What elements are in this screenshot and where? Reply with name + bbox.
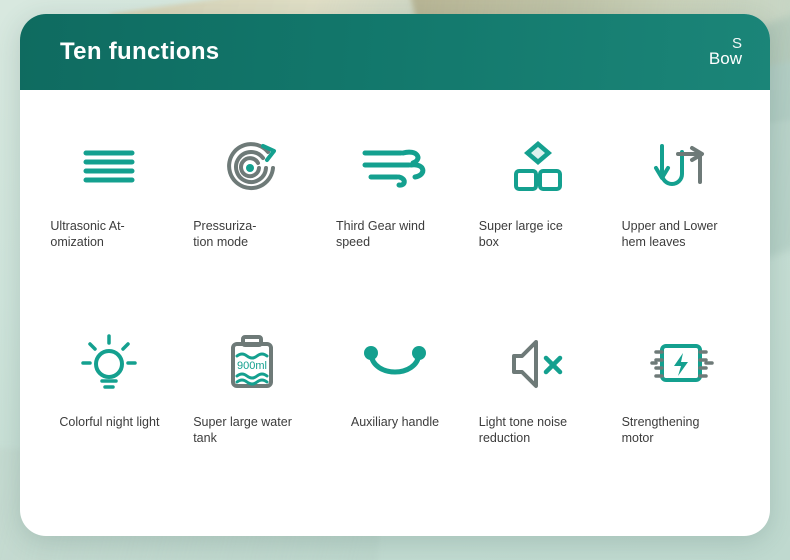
motor-bolt-icon [644, 320, 718, 406]
mute-speaker-icon [506, 320, 570, 406]
function-label: Colorful night light [50, 414, 168, 430]
header-right-line2: Bow [709, 50, 742, 69]
feature-card: Ten functions S Bow [20, 14, 770, 536]
water-tank-icon: 900ml [221, 320, 283, 406]
header-right-line1: S [709, 36, 742, 50]
function-label: Strengthening motor [622, 414, 740, 446]
page-title: Ten functions [60, 38, 219, 66]
function-item-super-large-water-tank[interactable]: 900ml Super large water tank [181, 320, 324, 516]
function-label: Third Gear wind speed [336, 218, 454, 250]
card-header: Ten functions S Bow [20, 14, 770, 90]
function-label: Super large ice box [479, 218, 597, 250]
function-item-strengthening-motor[interactable]: Strengthening motor [609, 320, 752, 516]
function-label: Light tone noise reduction [479, 414, 597, 446]
wind-lines-icon [357, 124, 433, 210]
function-label: Upper and Lower hem leaves [622, 218, 740, 250]
function-item-third-gear-wind-speed[interactable]: Third Gear wind speed [324, 124, 467, 320]
light-bulb-icon [77, 320, 141, 406]
function-label: Auxiliary handle [336, 414, 454, 430]
function-item-auxiliary-handle[interactable]: Auxiliary handle [324, 320, 467, 516]
water-tank-capacity-badge: 900ml [237, 360, 267, 372]
handle-icon [359, 320, 431, 406]
function-item-ultrasonic-atomization[interactable]: Ultrasonic At- omization [38, 124, 181, 320]
screen-root: Ten functions S Bow [0, 0, 790, 560]
function-label: Super large water tank [193, 414, 311, 446]
up-down-arrows-icon [648, 124, 714, 210]
spiral-fan-icon [217, 124, 287, 210]
function-item-upper-and-lower-hem-leaves[interactable]: Upper and Lower hem leaves [609, 124, 752, 320]
function-label: Ultrasonic At- omization [50, 218, 168, 250]
function-item-pressurization-mode[interactable]: Pressuriza- tion mode [181, 124, 324, 320]
function-item-super-large-ice-box[interactable]: Super large ice box [466, 124, 609, 320]
function-label: Pressuriza- tion mode [193, 218, 311, 250]
stacked-waves-icon [78, 124, 140, 210]
functions-grid: Ultrasonic At- omization Pressuri [20, 90, 770, 516]
function-item-colorful-night-light[interactable]: Colorful night light [38, 320, 181, 516]
function-item-light-tone-noise-reduction[interactable]: Light tone noise reduction [466, 320, 609, 516]
ice-box-icon [506, 124, 570, 210]
header-right-text: S Bow [709, 36, 744, 69]
